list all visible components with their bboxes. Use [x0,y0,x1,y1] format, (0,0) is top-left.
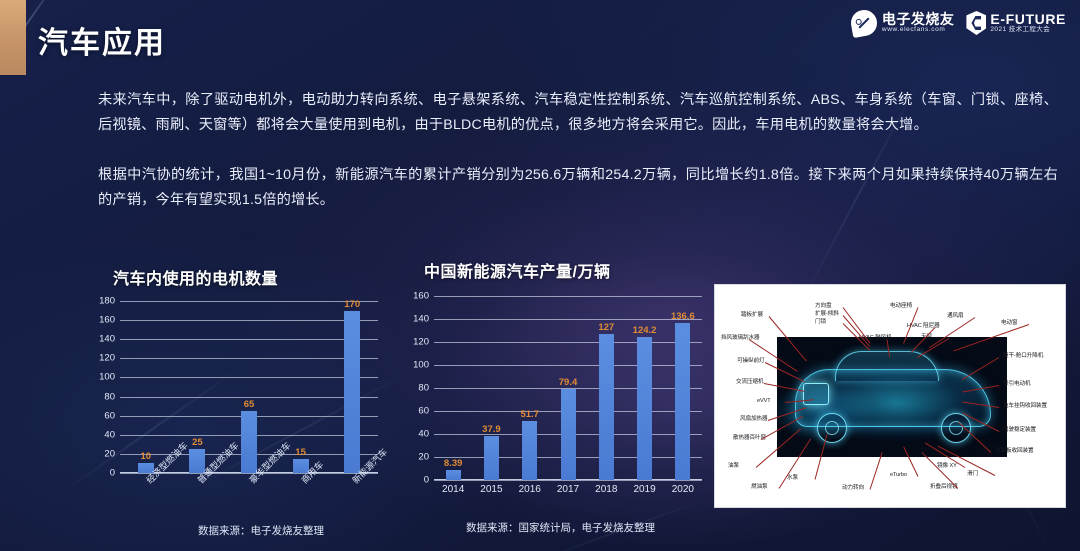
paragraph-2: 根据中汽协的统计，我国1~10月份，新能源汽车的累计产销分别为256.6万辆和2… [98,163,1058,213]
bar: 10经济型燃油车 [138,463,154,473]
x-axis-tick-label: 2018 [595,484,617,495]
y-axis-tick-label: 160 [413,291,429,302]
bar: 8.392014 [446,470,461,480]
y-axis-tick-label: 120 [99,353,115,364]
car-part-label: eVVT [757,398,771,405]
car-part-label: 躯干-舱口升降机 [1003,353,1043,360]
bar-value-label: 65 [244,399,255,410]
chart2-title: 中国新能源汽车产量/万辆 [424,258,610,282]
gridline [120,397,378,398]
car-wireframe-image [777,337,1007,457]
gridline [434,296,702,297]
bar: 1272018 [599,334,614,480]
chart2-source: 数据来源：国家统计局，电子发烧友整理 [466,520,655,535]
bar: 25普通型燃油车 [189,449,205,473]
car-part-label: 通风扇 [947,313,963,320]
y-axis-tick-label: 80 [104,391,115,402]
y-axis-tick-label: 40 [418,429,429,440]
y-axis-tick-label: 180 [99,296,115,307]
car-part-label: 可操纵前灯 [737,358,764,365]
car-part-label: 挡风玻璃刮水器 [721,335,759,342]
car-part-label: 水泵 [787,475,798,482]
elecfans-url: www.elecfans.com [882,27,955,34]
car-motor-highlight [803,383,829,405]
car-part-label: 门锁 [815,319,826,326]
bar-value-label: 136.6 [671,311,695,322]
bar-value-label: 170 [344,299,360,310]
y-axis-tick-label: 40 [104,429,115,440]
bar-value-label: 10 [141,451,152,462]
bar: 51.72016 [522,421,537,480]
x-axis-tick-label: 2015 [480,484,502,495]
car-front-wheel [817,413,847,443]
x-axis-tick-label: 经济型燃油车 [143,439,190,486]
bar-value-label: 37.9 [482,424,501,435]
efuture-subtitle: 2021 技术工程大会 [990,27,1066,34]
y-axis-tick-label: 160 [99,315,115,326]
gridline [120,377,378,378]
y-axis-tick-label: 60 [418,406,429,417]
gridline [120,339,378,340]
y-axis-tick-label: 140 [99,334,115,345]
car-part-label: eTurbo [890,472,907,479]
body-text: 未来汽车中，除了驱动电机外，电动助力转向系统、电子悬架系统、汽车稳定性控制系统、… [98,88,1058,213]
car-diagram-panel: 踏板扩展挡风玻璃刮水器可操纵前灯交流压缩机eVVT风扇加热器散热器百叶窗油泵燃油… [714,284,1066,508]
car-part-label: 方向盘 [815,303,831,310]
bar: 65豪华型燃油车 [241,411,257,473]
bar-value-label: 127 [598,322,614,333]
chart1-title: 汽车内使用的电机数量 [113,265,278,289]
x-axis-tick-label: 2020 [672,484,694,495]
y-axis-tick-label: 20 [418,452,429,463]
gridline [434,480,702,481]
page-title: 汽车应用 [38,18,166,62]
y-axis-tick-label: 100 [413,360,429,371]
x-axis-tick-label: 2019 [633,484,655,495]
car-part-label: 踏板扩展 [741,312,763,319]
title-accent-bar [0,0,26,75]
car-part-label: 踏脚板收回装置 [995,448,1033,455]
car-part-label: 电动窗 [1001,320,1017,327]
car-part-label: 油泵 [728,463,739,470]
gridline [120,320,378,321]
car-part-label: 驾驶稳定装置 [1003,427,1036,434]
x-axis-tick-label: 2016 [519,484,541,495]
car-part-label: 扩展-倾斜 [815,311,839,318]
car-part-label: 拖车挂钩收回装置 [1003,403,1047,410]
bar: 37.92015 [484,436,499,480]
bar: 170新能源汽车 [344,311,360,473]
y-axis-tick-label: 0 [424,475,429,486]
bar-value-label: 25 [192,437,203,448]
logo-area: 电子发烧友 www.elecfans.com E-FUTURE 2021 技术工… [851,10,1066,36]
y-axis-tick-label: 80 [418,383,429,394]
y-axis-tick-label: 0 [110,468,115,479]
efuture-logo: E-FUTURE 2021 技术工程大会 [966,11,1066,35]
bar: 136.62020 [675,323,690,480]
x-axis-tick-label: 2014 [442,484,464,495]
shield-e-icon [966,11,986,35]
x-axis-tick-label: 豪华型燃油车 [246,439,293,486]
x-axis-tick-label: 新能源汽车 [349,445,390,486]
car-part-label: 滑门 [967,471,978,478]
bar-value-label: 8.39 [444,458,463,469]
chart-nev-output: 中国新能源汽车产量/万辆 0204060801001201401608.3920… [398,258,713,540]
gridline [434,365,702,366]
gridline [434,319,702,320]
y-axis-tick-label: 20 [104,448,115,459]
elecfans-logo: 电子发烧友 www.elecfans.com [851,10,955,36]
chart1-plot-area: 02040608010012014016018010经济型燃油车25普通型燃油车… [120,301,378,473]
bar-value-label: 79.4 [559,377,578,388]
y-axis-tick-label: 140 [413,314,429,325]
car-part-label: 燃油泵 [751,484,767,491]
leaf-circuit-icon [849,8,879,38]
y-axis-tick-label: 120 [413,337,429,348]
car-part-label: 动力转向 [842,485,864,492]
bar-value-label: 51.7 [520,409,539,420]
car-part-label: 风扇加热器 [740,416,767,423]
paragraph-1: 未来汽车中，除了驱动电机外，电动助力转向系统、电子悬架系统、汽车稳定性控制系统、… [98,88,1058,138]
bar-value-label: 124.2 [633,325,657,336]
car-part-label: 电动座椅 [890,303,912,310]
bar: 79.42017 [561,389,576,480]
bar: 15商用车 [293,459,309,473]
car-part-label: 牵引电动机 [1003,381,1030,388]
x-axis-tick-label: 2017 [557,484,579,495]
gridline [120,358,378,359]
car-roof-shape [835,351,939,381]
car-part-label: 交流压缩机 [736,379,763,386]
chart1-source: 数据来源：电子发烧友整理 [198,523,324,538]
leader-line [870,452,883,489]
gridline [434,342,702,343]
bar-value-label: 15 [295,447,306,458]
chart2-plot-area: 0204060801001201401608.39201437.9201551.… [434,296,702,480]
y-axis-tick-label: 60 [104,410,115,421]
gridline [120,301,378,302]
elecfans-name: 电子发烧友 [882,12,955,27]
chart-motor-count: 汽车内使用的电机数量 02040608010012014016018010经济型… [78,265,398,540]
bar: 124.22019 [637,337,652,480]
y-axis-tick-label: 100 [99,372,115,383]
efuture-name: E-FUTURE [990,12,1066,27]
